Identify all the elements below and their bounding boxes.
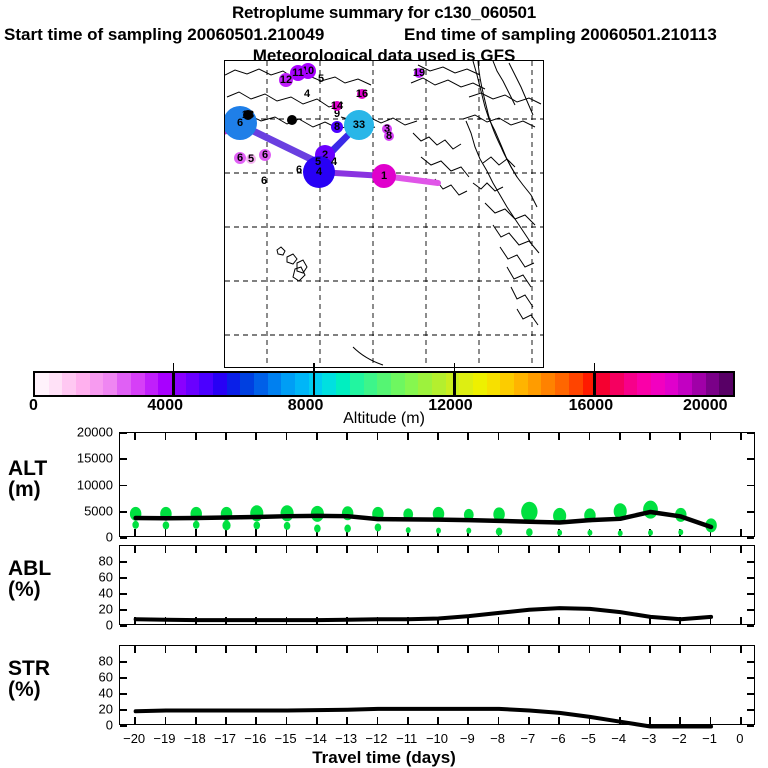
x-tick-label: −15 <box>275 731 297 746</box>
map-marker-label: 4 <box>331 156 337 168</box>
map-marker-label: 6 <box>262 149 268 161</box>
colorbar-tick <box>313 363 315 371</box>
y-tick <box>747 537 754 539</box>
colorbar-segment <box>405 373 419 395</box>
colorbar-segment <box>624 373 638 395</box>
y-tick <box>747 725 754 727</box>
altitude-scatter-point <box>495 527 502 535</box>
map-marker-label: 5 <box>318 73 324 85</box>
x-tick-label: −9 <box>460 731 475 746</box>
map-marker-label: 33 <box>353 119 365 131</box>
mean-abl-line <box>135 608 710 620</box>
colorbar-segment <box>199 373 213 395</box>
colorbar-segment <box>610 373 624 395</box>
y-tick-label: 5000 <box>0 503 113 518</box>
colorbar-segment <box>418 373 432 395</box>
colorbar-segment <box>254 373 268 395</box>
y-tick-label: 0 <box>0 530 113 545</box>
colorbar-segment <box>555 373 569 395</box>
y-tick-label: 20000 <box>0 425 113 440</box>
map-marker-label: 8 <box>386 130 392 142</box>
colorbar-segment <box>35 373 49 395</box>
colorbar-segment <box>500 373 514 395</box>
altitude-scatter-point <box>557 529 562 535</box>
map-marker-label: 16 <box>356 88 368 100</box>
altitude-colorbar[interactable] <box>33 371 735 397</box>
x-tick-label: −14 <box>305 731 327 746</box>
map-marker-label: 12 <box>280 74 292 86</box>
map-marker-label: 14 <box>331 100 343 112</box>
colorbar-segment <box>76 373 90 395</box>
y-tick <box>120 537 127 539</box>
map-marker-label: 6 <box>261 175 267 187</box>
altitude-scatter-point <box>678 529 683 535</box>
y-tick-label: 20 <box>0 702 113 717</box>
colorbar-segment <box>158 373 172 395</box>
page-title: Retroplume summary for c130_060501 <box>0 3 768 23</box>
colorbar-segment <box>541 373 555 395</box>
colorbar-caption: Altitude (m) <box>0 410 768 428</box>
plot-area-alt <box>122 435 755 537</box>
colorbar-segment <box>186 373 200 395</box>
colorbar-tick <box>454 363 456 371</box>
panel-label-abl: ABL(%) <box>8 558 51 601</box>
altitude-scatter-point <box>648 529 653 535</box>
colorbar-segment <box>678 373 692 395</box>
x-tick-label: −12 <box>365 731 387 746</box>
panel-label-line1: ABL <box>8 558 51 579</box>
x-tick-label: −5 <box>581 731 596 746</box>
panel-label-line1: ALT <box>8 458 47 479</box>
map-marker-label: 5 <box>248 153 254 165</box>
y-tick <box>120 725 127 727</box>
trajectory-map[interactable]: 1233344455566666888910111213141619 <box>224 60 544 368</box>
colorbar-tick <box>594 363 596 371</box>
x-tick-label: −2 <box>672 731 687 746</box>
y-tick-label: 0 <box>0 718 113 733</box>
altitude-scatter-point <box>344 524 351 532</box>
colorbar-segment <box>117 373 131 395</box>
x-tick-label: −6 <box>551 731 566 746</box>
panel-abl[interactable] <box>119 545 755 625</box>
colorbar-segment <box>459 373 473 395</box>
x-tick-label: −8 <box>490 731 505 746</box>
x-tick-label: −19 <box>153 731 175 746</box>
colorbar-segment <box>309 373 323 395</box>
colorbar-segment <box>49 373 63 395</box>
panel-label-line2: (%) <box>8 579 51 600</box>
altitude-scatter-point <box>466 527 471 533</box>
colorbar-segment <box>719 373 733 395</box>
y-tick-label: 0 <box>0 618 113 633</box>
altitude-scatter-point <box>132 520 139 528</box>
colorbar-segment <box>103 373 117 395</box>
colorbar-segment <box>240 373 254 395</box>
colorbar-divider <box>172 371 175 397</box>
altitude-scatter-point <box>436 527 441 533</box>
altitude-scatter-point <box>314 524 321 532</box>
colorbar-segment <box>473 373 487 395</box>
map-marker-label: 13 <box>242 109 254 121</box>
map-marker-label: 4 <box>304 88 310 100</box>
colorbar-divider <box>453 371 456 397</box>
y-tick <box>120 625 127 627</box>
altitude-scatter-point <box>643 500 658 518</box>
x-tick-label: −17 <box>214 731 236 746</box>
panel-label-line1: STR <box>8 658 50 679</box>
panel-label-alt: ALT(m) <box>8 458 47 501</box>
panel-label-line2: (m) <box>8 479 47 500</box>
plot-area-str <box>122 648 755 725</box>
colorbar-segment <box>62 373 76 395</box>
colorbar-segment <box>651 373 665 395</box>
x-tick-label: −16 <box>244 731 266 746</box>
colorbar-segment <box>295 373 309 395</box>
colorbar-segment <box>336 373 350 395</box>
altitude-scatter-point <box>253 521 260 529</box>
panel-label-str: STR(%) <box>8 658 50 701</box>
map-marker-label: 8 <box>334 121 340 133</box>
x-tick-label: −18 <box>184 731 206 746</box>
x-axis-title: Travel time (days) <box>0 748 768 768</box>
x-tick-label: −11 <box>396 731 417 746</box>
map-marker-label: 6 <box>296 164 302 176</box>
colorbar-tick <box>173 363 175 371</box>
plot-area-abl <box>122 548 755 625</box>
colorbar-segment <box>268 373 282 395</box>
x-tick-label: −4 <box>611 731 626 746</box>
altitude-scatter-point <box>587 529 592 535</box>
map-marker-label: 1 <box>381 170 387 182</box>
mean-str-line <box>135 708 710 726</box>
panel-label-line2: (%) <box>8 679 50 700</box>
trajectory-markers: 1233344455566666888910111213141619 <box>225 61 543 367</box>
altitude-scatter-point <box>521 501 537 521</box>
map-marker-label: 5 <box>315 156 321 168</box>
altitude-scatter-point <box>222 520 230 530</box>
colorbar-segment <box>665 373 679 395</box>
colorbar-segment <box>596 373 610 395</box>
colorbar-divider <box>313 371 316 397</box>
start-time-label: Start time of sampling 20060501.210049 <box>4 25 324 45</box>
x-tick-label: 0 <box>736 731 743 746</box>
panel-alt[interactable] <box>119 432 755 537</box>
altitude-scatter-point <box>162 521 169 529</box>
panel-str[interactable] <box>119 645 755 725</box>
colorbar-segment <box>364 373 378 395</box>
x-tick-label: −20 <box>123 731 145 746</box>
colorbar-divider <box>593 371 596 397</box>
map-marker-label: 6 <box>237 152 243 164</box>
y-tick-label: 20 <box>0 602 113 617</box>
altitude-scatter-point <box>280 505 293 521</box>
x-tick-label: −1 <box>702 731 717 746</box>
colorbar-segment <box>528 373 542 395</box>
colorbar-segment <box>322 373 336 395</box>
y-tick <box>747 625 754 627</box>
end-time-label: End time of sampling 20060501.210113 <box>404 25 717 45</box>
x-tick-label: −13 <box>335 731 357 746</box>
altitude-scatter-point <box>526 528 533 536</box>
colorbar-segment <box>432 373 446 395</box>
colorbar-segment <box>131 373 145 395</box>
colorbar-segment <box>514 373 528 395</box>
colorbar-segment <box>281 373 295 395</box>
colorbar-segment <box>692 373 706 395</box>
colorbar-segment <box>213 373 227 395</box>
colorbar-segment <box>487 373 501 395</box>
altitude-scatter-point <box>405 527 410 533</box>
altitude-scatter-point <box>283 521 290 529</box>
colorbar-segment <box>391 373 405 395</box>
map-marker-label: 19 <box>413 67 425 79</box>
colorbar-segment <box>145 373 159 395</box>
colorbar-segment <box>377 373 391 395</box>
colorbar-segment <box>637 373 651 395</box>
altitude-scatter-point <box>192 520 199 528</box>
altitude-scatter-point <box>374 523 381 531</box>
colorbar-segment <box>90 373 104 395</box>
colorbar-segment <box>350 373 364 395</box>
x-tick-label: −10 <box>426 731 448 746</box>
map-marker-label: 8 <box>289 114 295 126</box>
x-tick-label: −7 <box>520 731 535 746</box>
colorbar-segment <box>706 373 720 395</box>
colorbar-segment <box>227 373 241 395</box>
map-marker-label: 11 <box>292 67 304 79</box>
x-tick-label: −3 <box>642 731 657 746</box>
colorbar-segment <box>569 373 583 395</box>
altitude-scatter-point <box>617 530 622 536</box>
